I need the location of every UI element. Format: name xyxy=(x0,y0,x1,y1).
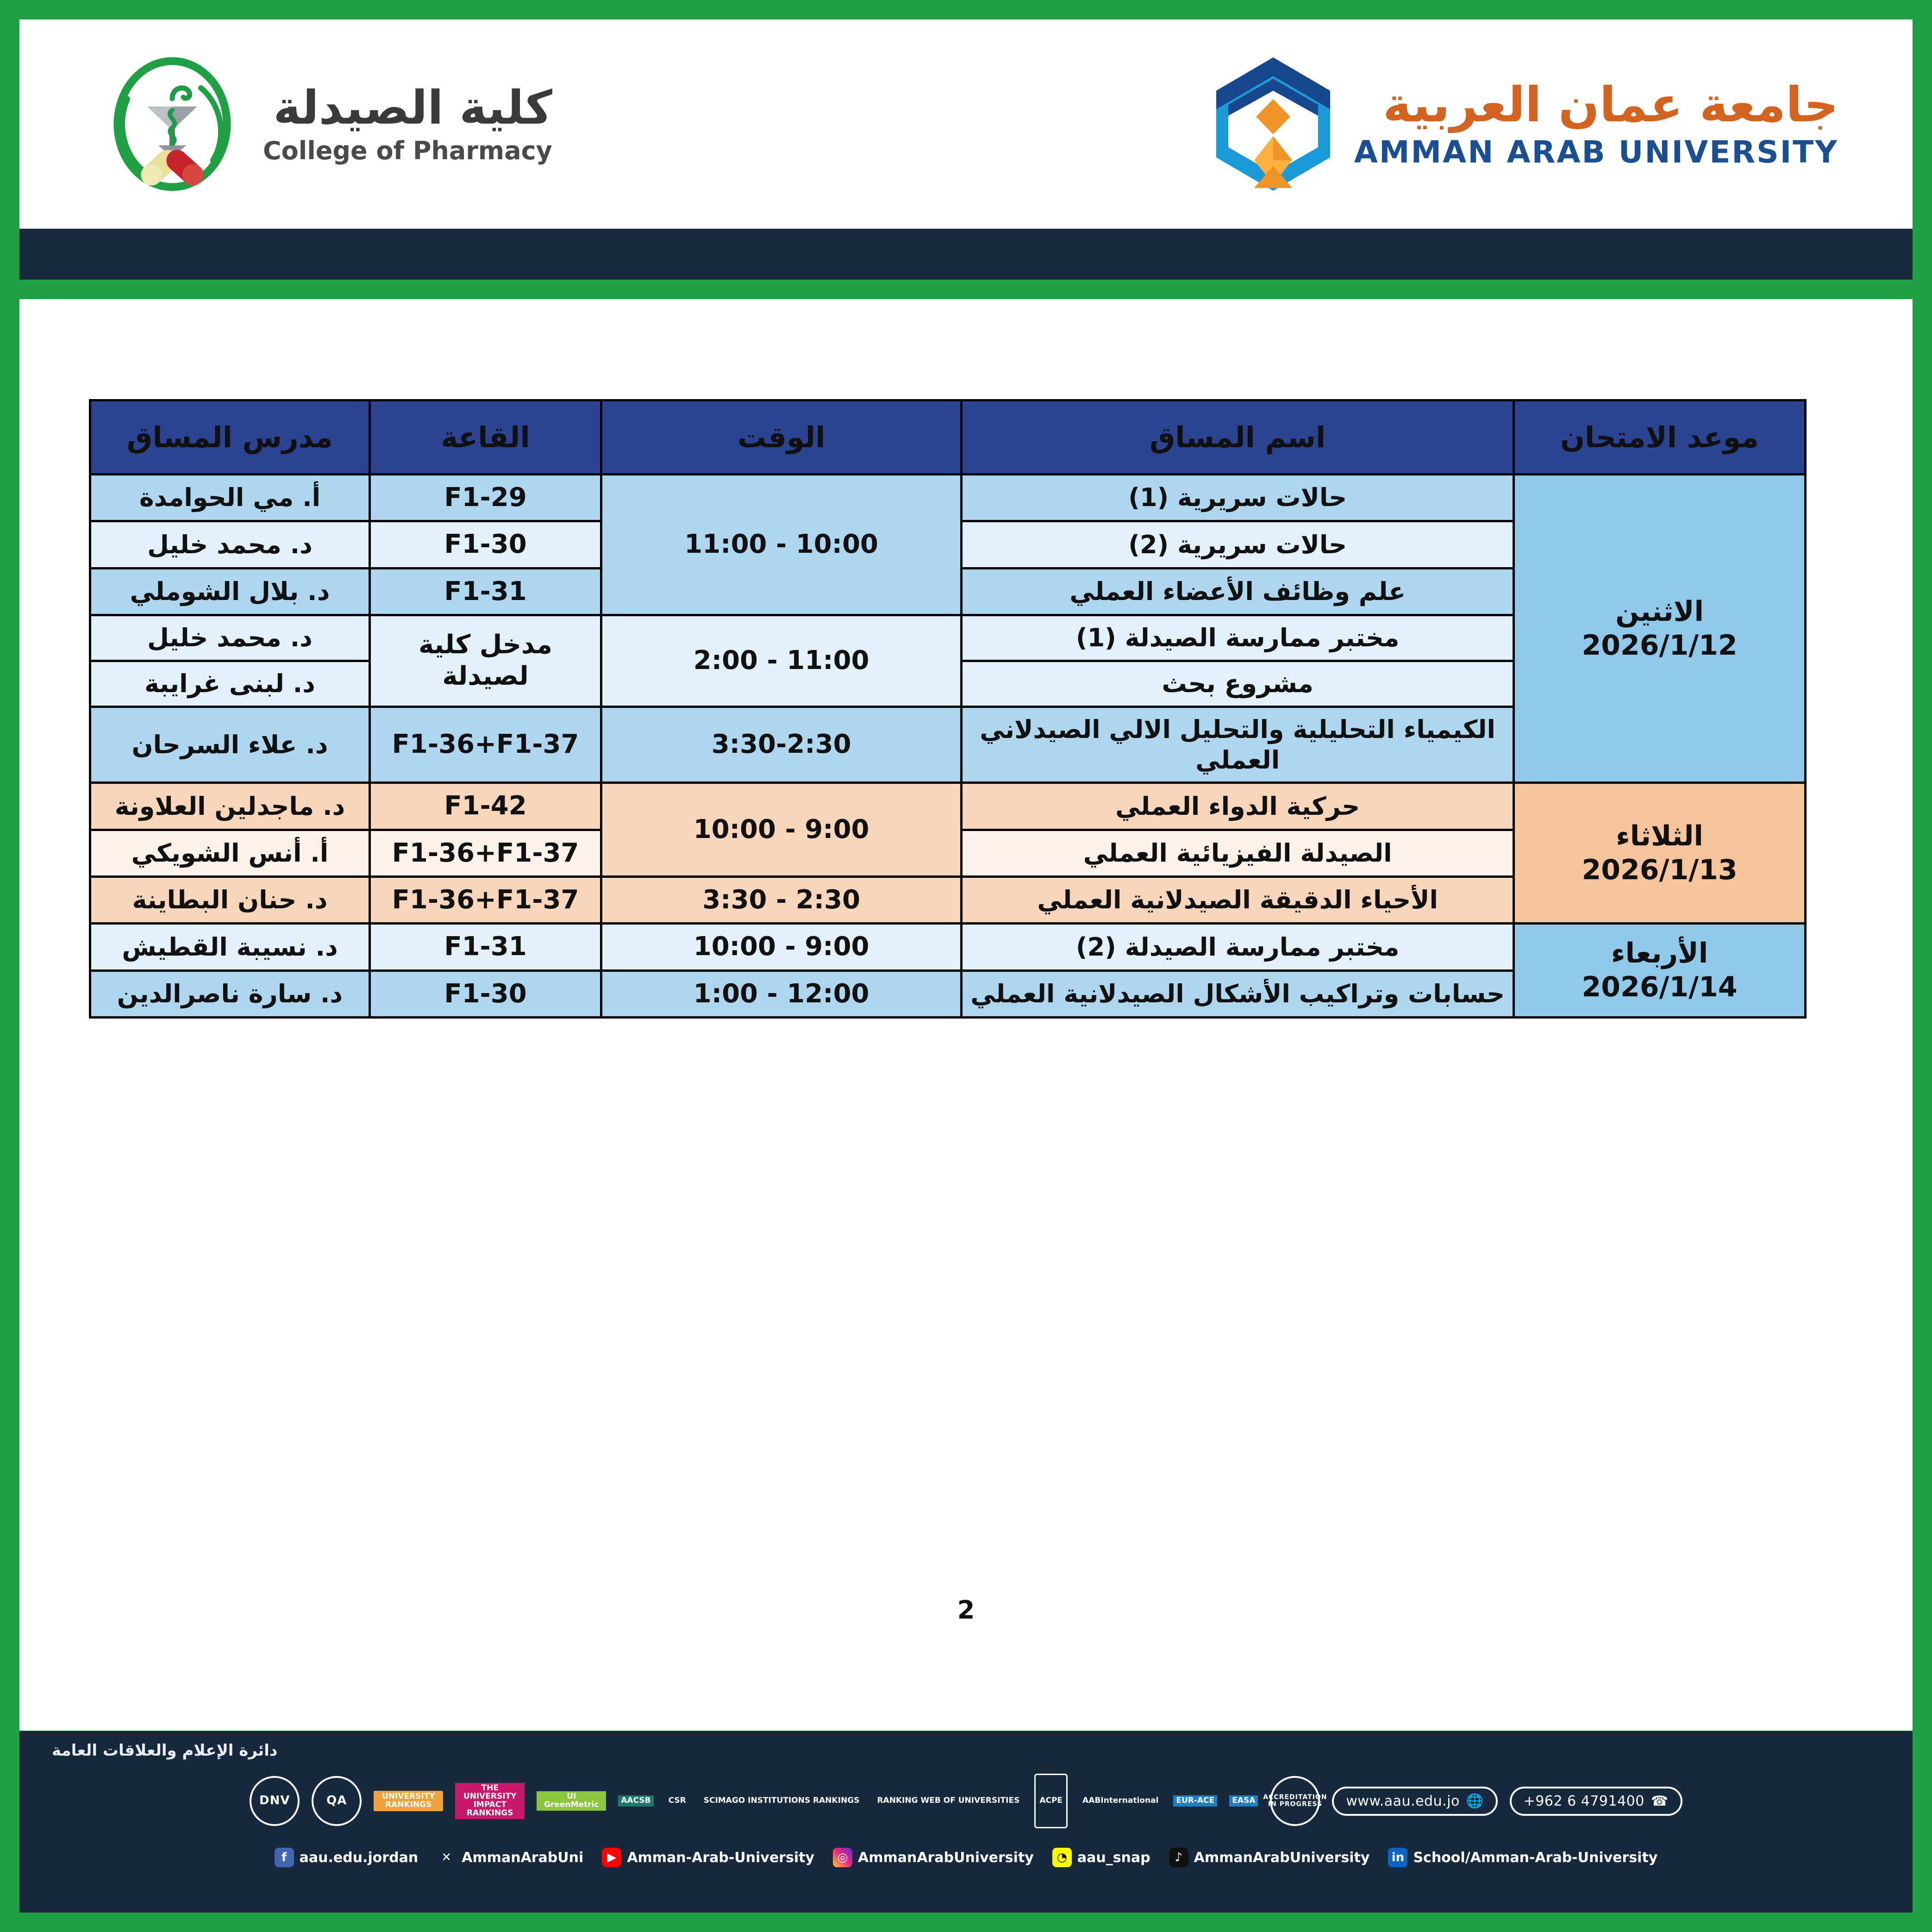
exam-time-cell: 10:00 - 9:00 xyxy=(601,924,962,970)
social-link-linkedin[interactable]: inSchool/Amman-Arab-University xyxy=(1388,1848,1657,1867)
accreditation-easa-icon: EASA xyxy=(1229,1774,1258,1828)
linkedin-icon: in xyxy=(1388,1848,1407,1867)
phone-icon: ☎ xyxy=(1651,1793,1669,1809)
footer: دائرة الإعلام والعلاقات العامة DNV QA UN… xyxy=(19,1731,1913,1913)
pharmacy-name-english: College of Pharmacy xyxy=(263,138,552,163)
exam-hall-cell: F1-42 xyxy=(369,783,601,830)
social-link-x[interactable]: ✕AmmanArabUni xyxy=(437,1848,583,1867)
instructor-cell: د. بلال الشوملي xyxy=(90,568,370,615)
social-handle: School/Amman-Arab-University xyxy=(1413,1850,1657,1866)
exam-day-cell: الثلاثاء2026/1/13 xyxy=(1514,783,1806,924)
accreditation-label: UNIVERSITY RANKINGS xyxy=(382,1792,435,1809)
social-link-youtube[interactable]: ▶Amman-Arab-University xyxy=(602,1848,814,1867)
globe-icon: 🌐 xyxy=(1466,1793,1484,1809)
exam-time-cell: 2:00 - 11:00 xyxy=(601,615,962,707)
column-header-time: الوقت xyxy=(601,400,962,475)
course-name-cell: مشروع بحث xyxy=(962,661,1514,707)
exam-day-cell: الأربعاء2026/1/14 xyxy=(1514,924,1806,1018)
instructor-cell: د. محمد خليل xyxy=(90,521,370,568)
pharmacy-mortar-serpent-capsules-icon xyxy=(103,55,242,194)
accreditation-acpe-icon: ACPE xyxy=(1034,1774,1068,1828)
page-number: 2 xyxy=(19,1595,1913,1625)
exam-day-date: 2026/1/13 xyxy=(1582,854,1738,886)
exam-schedule-table: موعد الامتحان اسم المساق الوقت القاعة مد… xyxy=(89,399,1807,1019)
social-link-instagram[interactable]: ◎AmmanArabUniversity xyxy=(833,1848,1034,1867)
exam-time-cell: 3:30 - 2:30 xyxy=(601,877,962,924)
accreditation-label: AABInternational xyxy=(1082,1797,1158,1805)
instructor-cell: د. محمد خليل xyxy=(90,615,370,661)
amman-arab-university-logo: جامعة عمان العربية AMMAN ARAB UNIVERSITY xyxy=(1211,55,1838,194)
course-name-cell: حالات سريرية (1) xyxy=(962,475,1514,521)
accreditation-label: ACPE xyxy=(1039,1797,1063,1805)
phone-pill[interactable]: +962 6 4791400 ☎ xyxy=(1510,1787,1682,1816)
exam-hall-cell: F1-29 xyxy=(369,475,601,521)
instructor-cell: د. نسيبة القطيش xyxy=(90,924,370,970)
accreditation-logos-row: DNV QA UNIVERSITY RANKINGS THE UNIVERSIT… xyxy=(52,1766,1880,1836)
pharmacy-logo-text: كلية الصيدلة College of Pharmacy xyxy=(263,85,552,163)
table-header: موعد الامتحان اسم المساق الوقت القاعة مد… xyxy=(90,400,1806,475)
accreditation-label: THE UNIVERSITY IMPACT RANKINGS xyxy=(463,1783,517,1818)
accreditation-label: CSR xyxy=(669,1797,686,1805)
website-pill[interactable]: www.aau.edu.jo 🌐 xyxy=(1332,1787,1497,1816)
exam-hall-cell: F1-36+F1-37 xyxy=(369,707,601,783)
accreditation-the-impact-rankings-icon: THE UNIVERSITY IMPACT RANKINGS xyxy=(455,1774,525,1828)
instructor-cell: د. علاء السرحان xyxy=(90,707,370,783)
youtube-icon: ▶ xyxy=(602,1848,621,1867)
accreditation-university-rankings-arab-region-icon: UNIVERSITY RANKINGS xyxy=(374,1774,443,1828)
facebook-icon: f xyxy=(275,1848,294,1867)
exam-day-name: الاثنين xyxy=(1615,595,1704,628)
column-header-hall: القاعة xyxy=(369,400,601,475)
website-url: www.aau.edu.jo xyxy=(1346,1793,1459,1809)
social-links-row: faau.edu.jordan✕AmmanArabUni▶Amman-Arab-… xyxy=(52,1848,1880,1867)
navy-divider-bar xyxy=(19,229,1913,280)
pharmacy-name-arabic: كلية الصيدلة xyxy=(263,85,552,131)
exam-hall-cell: مدخل كلية لصيدلة xyxy=(369,615,601,707)
social-handle: aau.edu.jordan xyxy=(300,1850,419,1866)
accreditation-label: QA xyxy=(326,1794,347,1807)
table-row: الأربعاء2026/1/14مختبر ممارسة الصيدلة (2… xyxy=(90,924,1806,970)
snapchat-icon: ◔ xyxy=(1052,1848,1072,1867)
course-name-cell: مختبر ممارسة الصيدلة (2) xyxy=(962,924,1514,970)
accreditation-label: AACSB xyxy=(621,1796,650,1805)
footer-department-label: دائرة الإعلام والعلاقات العامة xyxy=(52,1741,1880,1760)
exam-time-cell: 10:00 - 9:00 xyxy=(601,783,962,877)
exam-time-cell: 1:00 - 12:00 xyxy=(601,970,962,1017)
aau-name-english: AMMAN ARAB UNIVERSITY xyxy=(1354,137,1838,168)
exam-hall-cell: F1-36+F1-37 xyxy=(369,830,601,876)
instructor-cell: أ. أنس الشويكي xyxy=(90,830,370,876)
accreditation-aacsb-icon: AACSB xyxy=(618,1774,653,1828)
page-body: موعد الامتحان اسم المساق الوقت القاعة مد… xyxy=(19,299,1913,1731)
column-header-course: اسم المساق xyxy=(962,400,1514,475)
instagram-icon: ◎ xyxy=(833,1848,852,1867)
exam-day-name: الثلاثاء xyxy=(1616,820,1703,852)
x-twitter-icon: ✕ xyxy=(437,1848,456,1867)
course-name-cell: حالات سريرية (2) xyxy=(962,521,1514,568)
exam-schedule-page: كلية الصيدلة College of Pharmacy جامعة xyxy=(0,0,1932,1932)
exam-hall-cell: F1-30 xyxy=(369,521,601,568)
accreditation-label: ACCREDITATION IN PROGRESS xyxy=(1263,1794,1327,1807)
exam-time-cell: 11:00 - 10:00 xyxy=(601,475,962,615)
accreditation-in-progress-icon: ACCREDITATION IN PROGRESS xyxy=(1270,1774,1320,1828)
social-link-facebook[interactable]: faau.edu.jordan xyxy=(275,1848,419,1867)
exam-hall-cell: F1-36+F1-37 xyxy=(369,877,601,924)
instructor-cell: د. ماجدلين العلاونة xyxy=(90,783,370,830)
exam-day-date: 2026/1/12 xyxy=(1582,629,1738,662)
exam-day-cell: الاثنين2026/1/12 xyxy=(1514,475,1806,783)
header-band: كلية الصيدلة College of Pharmacy جامعة xyxy=(19,19,1913,229)
course-name-cell: علم وظائف الأعضاء العملي xyxy=(962,568,1514,615)
social-handle: AmmanArabUni xyxy=(462,1850,583,1866)
accreditation-qa-icon: QA xyxy=(312,1774,362,1828)
course-name-cell: الكيمياء التحليلية والتحليل الالي الصيدل… xyxy=(962,707,1514,783)
social-handle: Amman-Arab-University xyxy=(627,1850,814,1866)
instructor-cell: د. حنان البطاينة xyxy=(90,877,370,924)
course-name-cell: حسابات وتراكيب الأشكال الصيدلانية العملي xyxy=(962,970,1514,1017)
accreditation-dnv-icon: DNV xyxy=(250,1774,300,1828)
header-row: موعد الامتحان اسم المساق الوقت القاعة مد… xyxy=(90,400,1806,475)
accreditation-scimago-icon: SCIMAGO INSTITUTIONS RANKINGS xyxy=(701,1774,863,1828)
column-header-instructor: مدرس المساق xyxy=(90,400,370,475)
aau-logo-text: جامعة عمان العربية AMMAN ARAB UNIVERSITY xyxy=(1354,81,1838,168)
aau-name-arabic: جامعة عمان العربية xyxy=(1354,81,1838,129)
column-header-day: موعد الامتحان xyxy=(1514,400,1806,475)
accreditation-label: SCIMAGO INSTITUTIONS RANKINGS xyxy=(704,1797,860,1805)
accreditation-label: EASA xyxy=(1232,1796,1255,1805)
exam-hall-cell: F1-31 xyxy=(369,924,601,970)
exam-hall-cell: F1-30 xyxy=(369,970,601,1017)
accreditation-label: DNV xyxy=(259,1794,290,1807)
accreditation-label: UI GreenMetric xyxy=(544,1792,599,1809)
accreditation-label: EUR-ACE xyxy=(1176,1796,1214,1805)
instructor-cell: د. لبنى غرايبة xyxy=(90,661,370,707)
social-link-tiktok[interactable]: ♪AmmanArabUniversity xyxy=(1169,1848,1370,1867)
exam-day-name: الأربعاء xyxy=(1611,937,1708,969)
accreditation-csr-icon: CSR xyxy=(666,1774,689,1828)
exam-hall-cell: F1-31 xyxy=(369,568,601,615)
social-handle: AmmanArabUniversity xyxy=(858,1850,1034,1866)
instructor-cell: د. سارة ناصرالدين xyxy=(90,970,370,1017)
course-name-cell: حركية الدواء العملي xyxy=(962,783,1514,830)
exam-schedule-table-wrap: موعد الامتحان اسم المساق الوقت القاعة مد… xyxy=(89,399,1807,1019)
exam-time-cell: 3:30-2:30 xyxy=(601,707,962,783)
social-handle: AmmanArabUniversity xyxy=(1194,1850,1370,1866)
course-name-cell: مختبر ممارسة الصيدلة (1) xyxy=(962,615,1514,661)
accreditation-aab-international-icon: AABInternational xyxy=(1080,1774,1161,1828)
college-of-pharmacy-logo: كلية الصيدلة College of Pharmacy xyxy=(103,55,552,194)
table-row: الثلاثاء2026/1/13حركية الدواء العملي10:0… xyxy=(90,783,1806,830)
accreditation-label: RANKING WEB OF UNIVERSITIES xyxy=(877,1797,1019,1805)
course-name-cell: الصيدلة الفيزيائية العملي xyxy=(962,830,1514,876)
accreditation-ui-greenmetric-icon: UI GreenMetric xyxy=(537,1774,606,1828)
exam-day-date: 2026/1/14 xyxy=(1582,971,1738,1003)
table-row: الاثنين2026/1/12حالات سريرية (1)11:00 - … xyxy=(90,475,1806,521)
social-handle: aau_snap xyxy=(1077,1850,1150,1866)
aau-hexagon-emblem-icon xyxy=(1211,55,1336,194)
social-link-snapchat[interactable]: ◔aau_snap xyxy=(1052,1848,1150,1867)
phone-number: +962 6 4791400 xyxy=(1524,1793,1644,1809)
table-body: الاثنين2026/1/12حالات سريرية (1)11:00 - … xyxy=(90,475,1806,1018)
accreditation-eur-ace-icon: EUR-ACE xyxy=(1173,1774,1217,1828)
tiktok-icon: ♪ xyxy=(1169,1848,1188,1867)
course-name-cell: الأحياء الدقيقة الصيدلانية العملي xyxy=(962,877,1514,924)
instructor-cell: أ. مي الحوامدة xyxy=(90,475,370,521)
accreditation-ranking-web-icon: RANKING WEB OF UNIVERSITIES xyxy=(874,1774,1022,1828)
